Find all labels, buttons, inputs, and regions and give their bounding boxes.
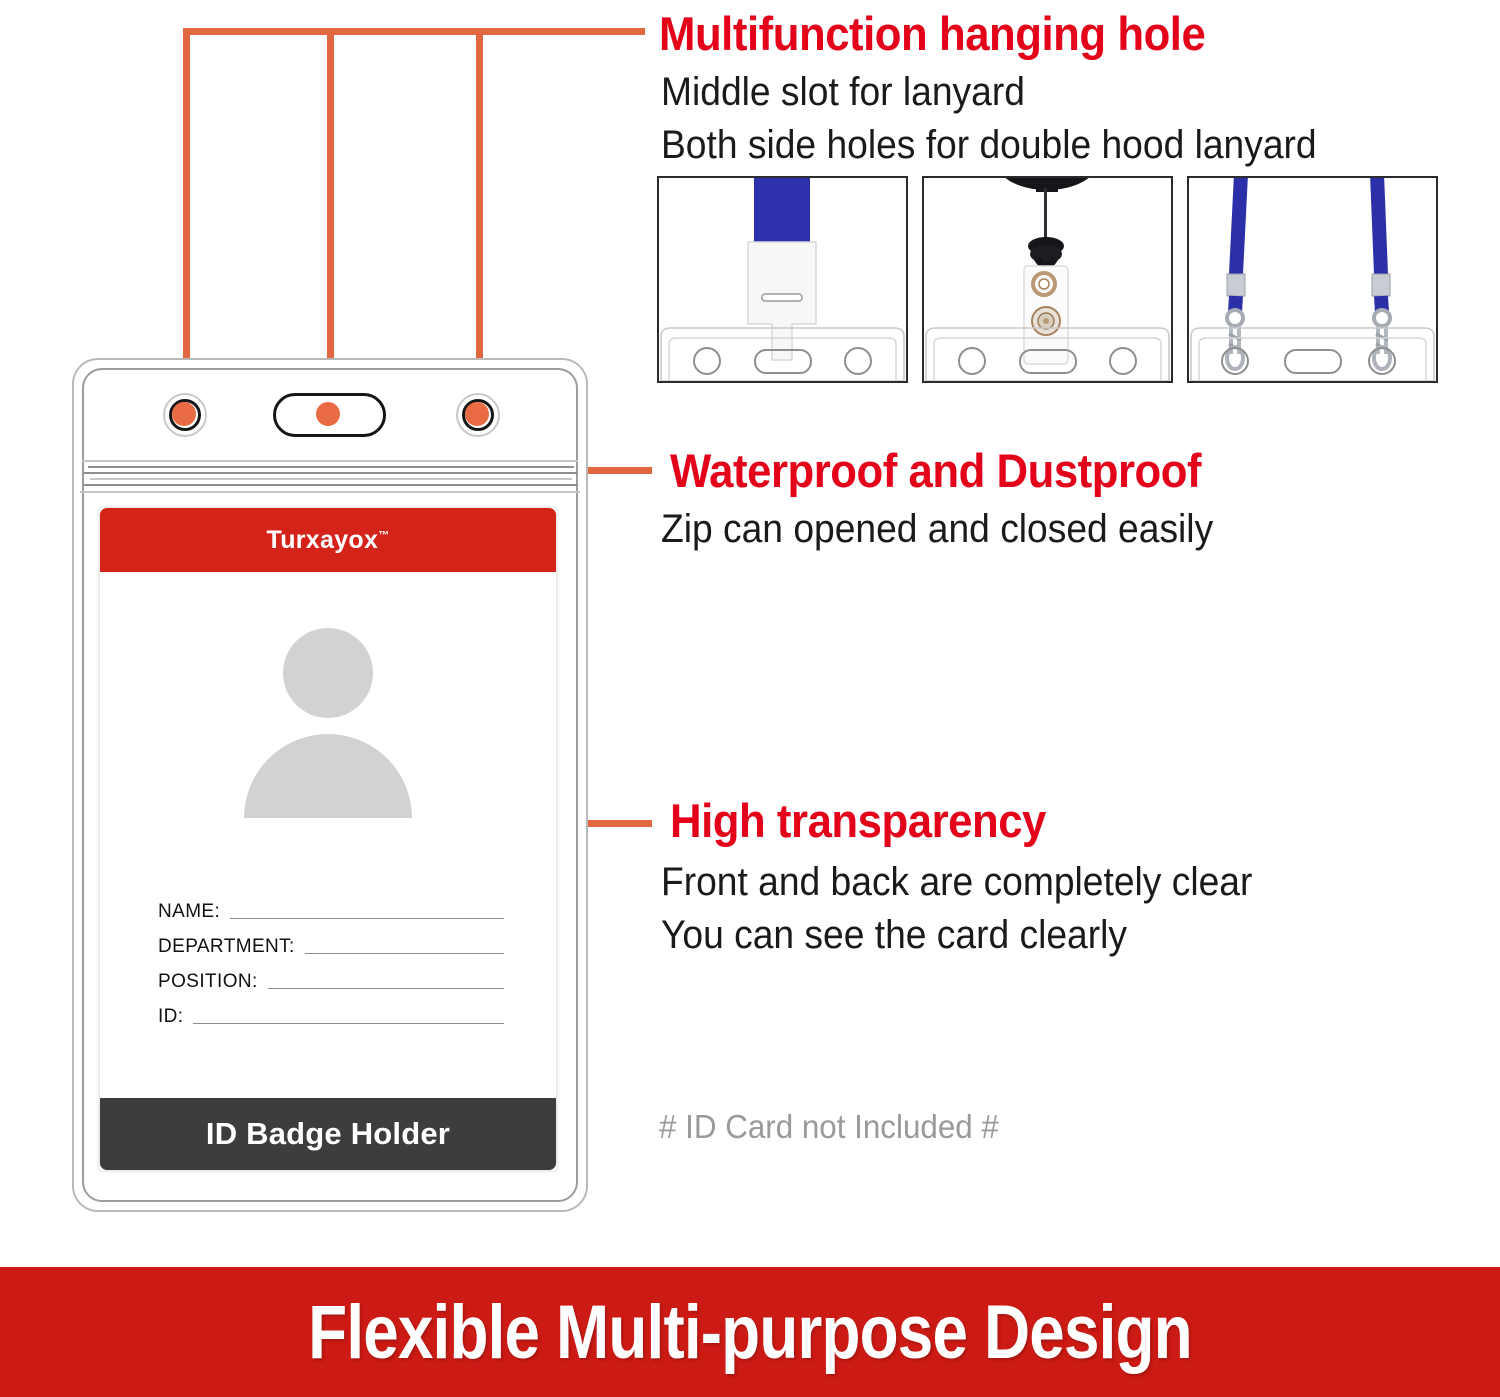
bottom-banner: Flexible Multi-purpose Design bbox=[0, 1267, 1500, 1397]
zipper-line bbox=[84, 472, 578, 474]
field-label-department: DEPARTMENT: bbox=[158, 936, 295, 958]
flat-lanyard-clip-illustration bbox=[659, 178, 906, 381]
retractable-badge-reel-illustration bbox=[924, 178, 1171, 381]
zipper-line bbox=[90, 478, 572, 480]
avatar-placeholder bbox=[100, 628, 556, 848]
field-label-id: ID: bbox=[158, 1006, 183, 1028]
leader-line-vertical-left-eyelet bbox=[183, 28, 190, 413]
leader-line-horizontal-top bbox=[183, 28, 645, 35]
avatar-body-icon bbox=[244, 734, 412, 818]
brand-name: Turxayox™ bbox=[266, 526, 389, 555]
callout-line-transparency-1: Front and back are completely clear bbox=[661, 860, 1252, 905]
trademark-symbol: ™ bbox=[378, 529, 389, 541]
thumbnail-flat-lanyard-clip bbox=[657, 176, 908, 383]
zipper-line bbox=[84, 484, 578, 486]
field-label-position: POSITION: bbox=[158, 971, 258, 993]
thumbnail-retractable-badge-reel bbox=[922, 176, 1173, 383]
field-row-department: DEPARTMENT: bbox=[158, 923, 504, 958]
field-label-name: NAME: bbox=[158, 901, 220, 923]
leader-dot-left-eyelet bbox=[172, 402, 196, 426]
disclaimer-note: # ID Card not Included # bbox=[659, 1108, 999, 1146]
zipper-line bbox=[82, 460, 578, 462]
zipper-line bbox=[88, 466, 574, 468]
callout-line-hanging-hole-2: Both side holes for double hood lanyard bbox=[661, 123, 1317, 168]
brand-name-text: Turxayox bbox=[266, 526, 378, 554]
card-footer-label: ID Badge Holder bbox=[206, 1116, 450, 1152]
card-footer-band: ID Badge Holder bbox=[100, 1098, 556, 1170]
id-card-insert: Turxayox™ NAME: DEPARTMENT: POSITION: ID… bbox=[100, 508, 556, 1170]
field-write-line-department bbox=[305, 952, 504, 954]
callout-title-waterproof: Waterproof and Dustproof bbox=[670, 443, 1201, 498]
field-row-position: POSITION: bbox=[158, 958, 504, 993]
avatar-head-icon bbox=[283, 628, 373, 718]
field-row-id: ID: bbox=[158, 993, 504, 1028]
zipper-line bbox=[80, 491, 580, 493]
leader-dot-right-eyelet bbox=[465, 402, 489, 426]
callout-title-transparency: High transparency bbox=[670, 793, 1046, 848]
leader-dot-center-slot bbox=[316, 402, 340, 426]
field-write-line-id bbox=[193, 1022, 504, 1024]
callout-title-hanging-hole: Multifunction hanging hole bbox=[659, 6, 1205, 61]
product-infographic: Multifunction hanging hole Middle slot f… bbox=[0, 0, 1500, 1397]
field-write-line-name bbox=[230, 917, 504, 919]
double-hood-lanyard-illustration bbox=[1189, 178, 1436, 381]
leader-line-vertical-center-slot bbox=[327, 28, 334, 413]
callout-line-transparency-2: You can see the card clearly bbox=[661, 913, 1127, 958]
card-field-list: NAME: DEPARTMENT: POSITION: ID: bbox=[158, 888, 504, 1028]
bottom-banner-text: Flexible Multi-purpose Design bbox=[308, 1289, 1192, 1376]
thumbnail-double-hood-lanyard bbox=[1187, 176, 1438, 383]
callout-line-waterproof-1: Zip can opened and closed easily bbox=[661, 507, 1213, 552]
leader-line-vertical-right-eyelet bbox=[476, 28, 483, 413]
field-row-name: NAME: bbox=[158, 888, 504, 923]
callout-line-hanging-hole-1: Middle slot for lanyard bbox=[661, 70, 1025, 115]
card-brand-band: Turxayox™ bbox=[100, 508, 556, 572]
field-write-line-position bbox=[268, 987, 504, 989]
